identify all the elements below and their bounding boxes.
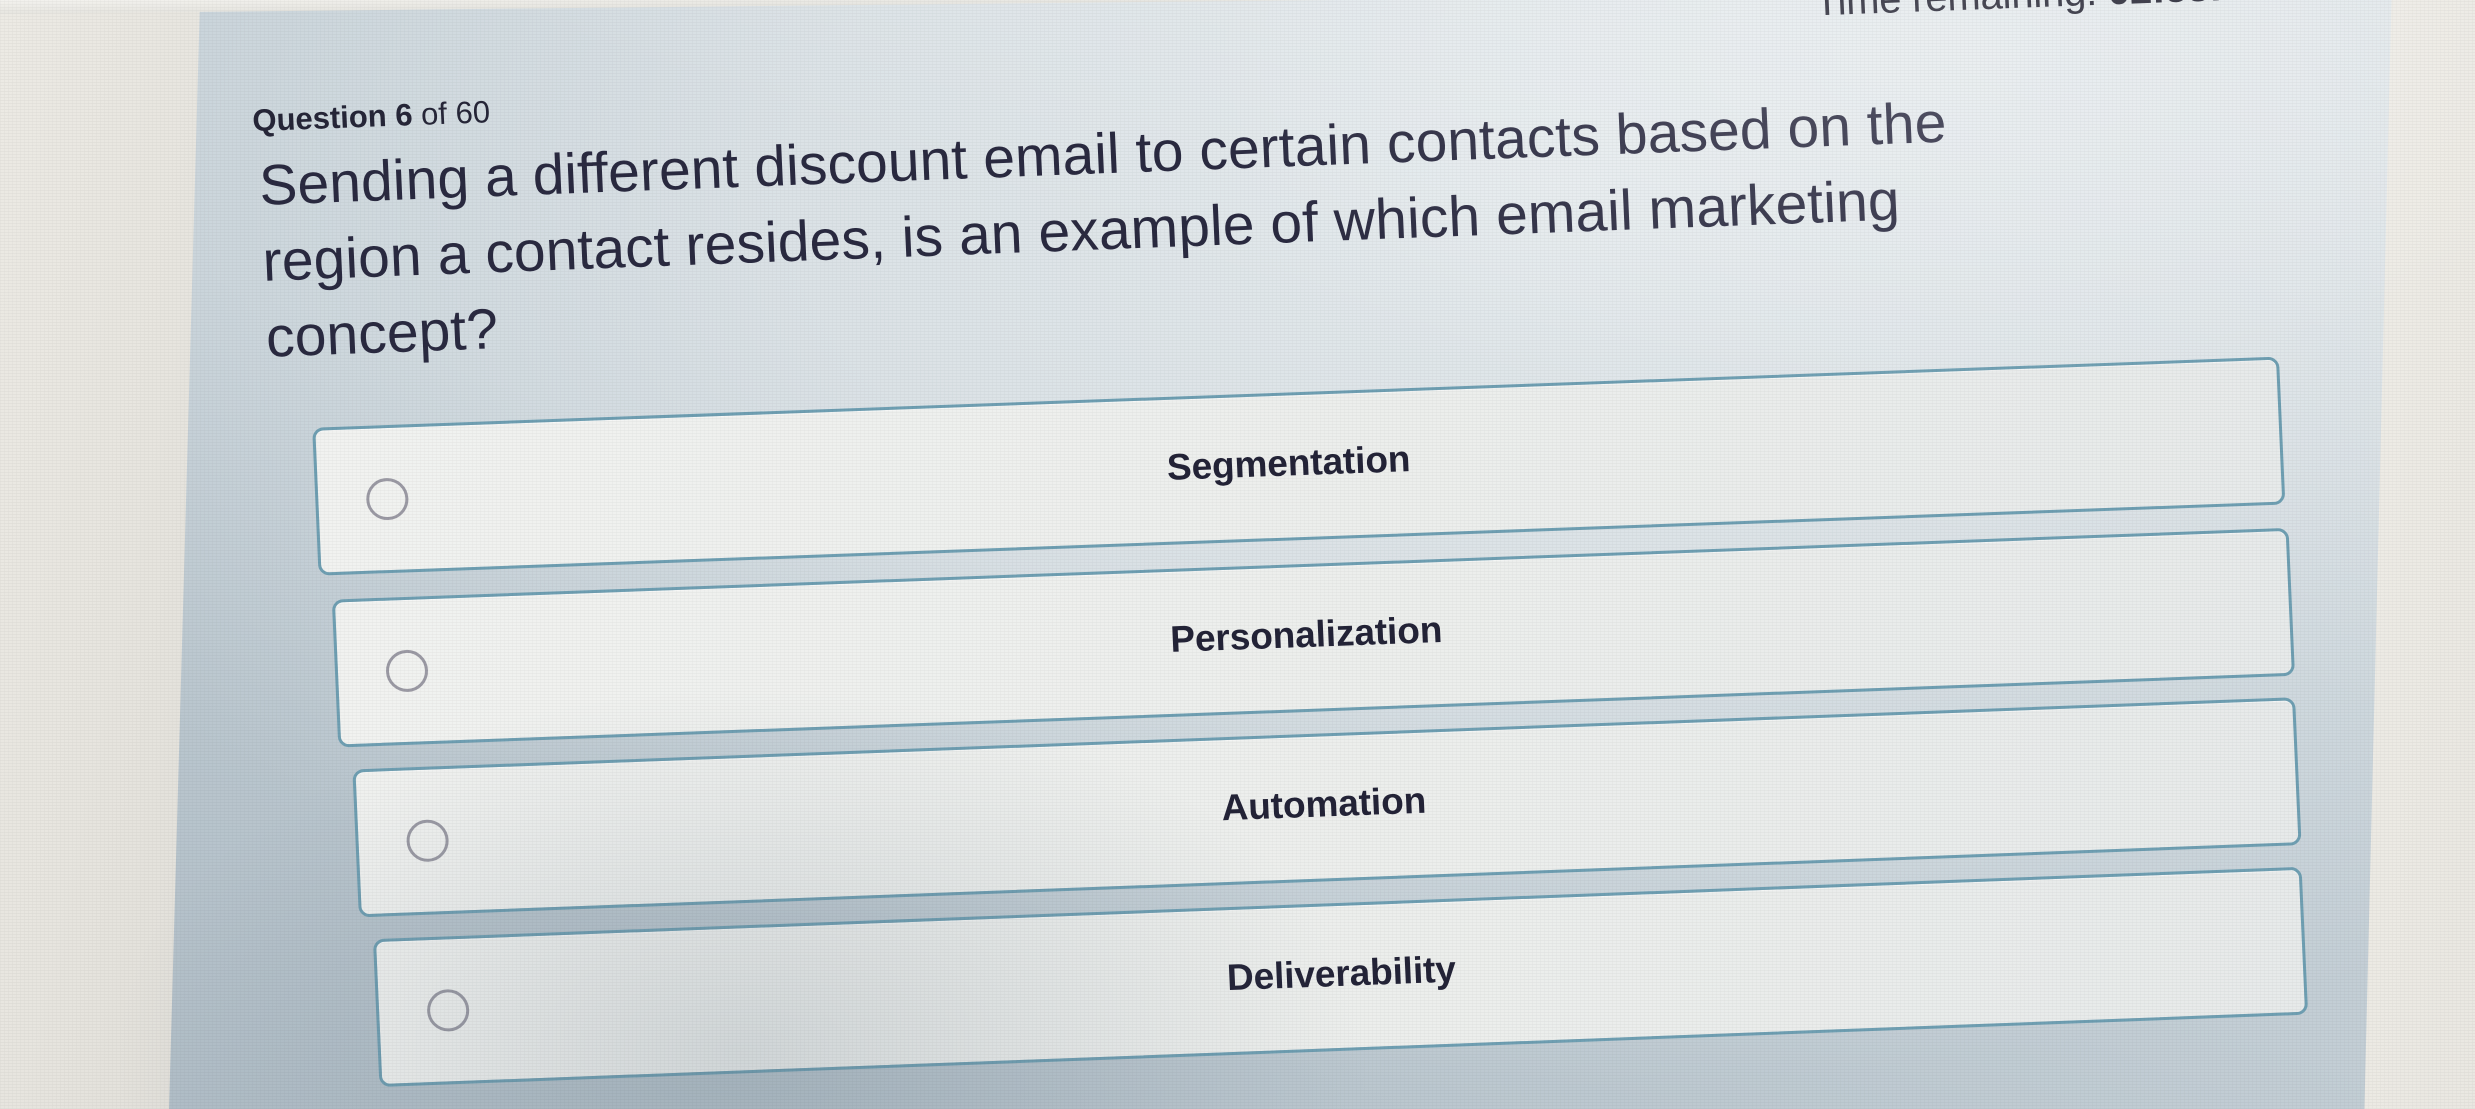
- device-bezel-left: [0, 0, 200, 1109]
- question-total: of 60: [420, 94, 490, 132]
- question-text: Sending a different discount email to ce…: [258, 70, 2377, 376]
- answer-option-label: Deliverability: [380, 917, 2303, 1031]
- answer-option-label: Segmentation: [297, 407, 2280, 521]
- answer-option-label: Automation: [352, 747, 2297, 861]
- question-counter: Question 6 of 60: [252, 94, 491, 139]
- question-number: Question 6: [252, 97, 414, 138]
- quiz-content: Time remaining: 02:53:11 Question 6 of 6…: [0, 0, 2475, 1109]
- answer-option-label: Personalization: [323, 578, 2290, 692]
- time-remaining-value: 02:53:11: [2107, 0, 2265, 13]
- time-remaining: Time remaining: 02:53:11: [1814, 0, 2265, 25]
- time-remaining-label: Time remaining:: [1814, 0, 2098, 24]
- screenshot-root: Time remaining: 02:53:11 Question 6 of 6…: [0, 0, 2475, 1109]
